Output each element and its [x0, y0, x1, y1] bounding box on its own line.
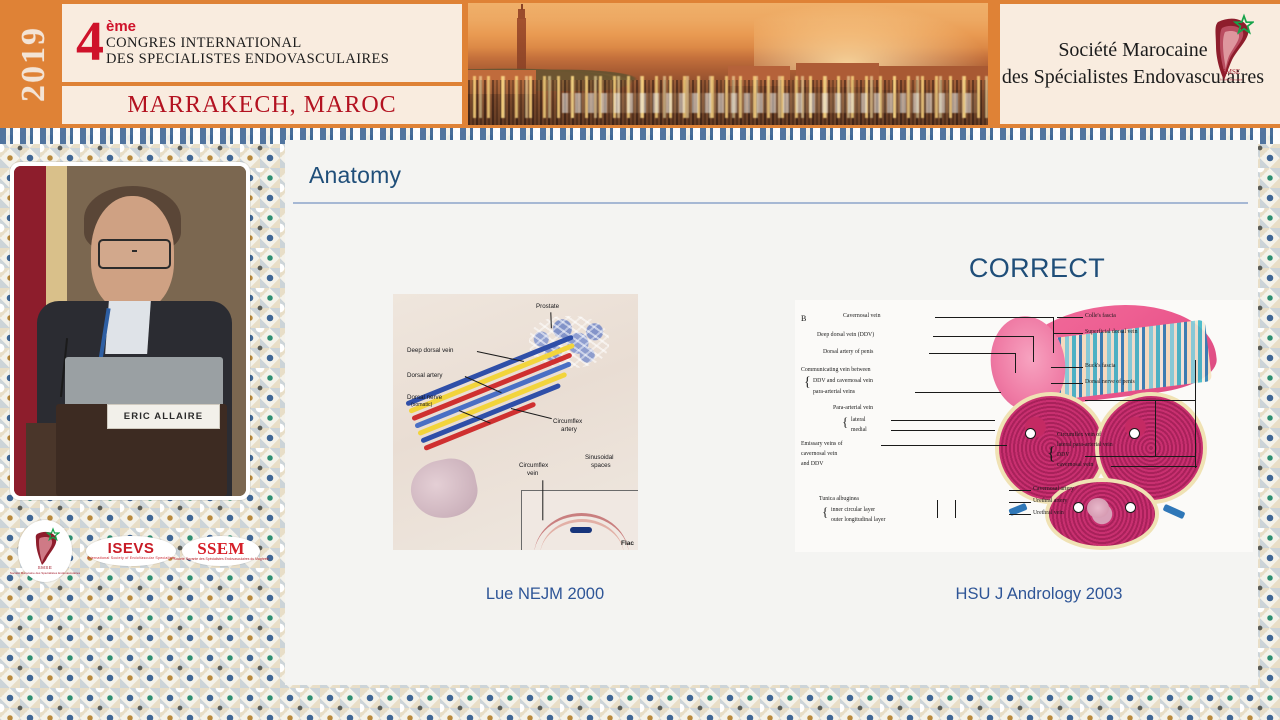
penile-shaft-vessels	[402, 321, 605, 459]
caption-left: Lue NEJM 2000	[395, 585, 695, 604]
flac-label: Flac	[621, 540, 634, 547]
label-urethral-vein: Urethral vein	[1033, 510, 1064, 517]
label-circumflex-vein-2: vein	[527, 470, 538, 477]
conference-header-banner: 2019 4 ème CONGRES INTERNATIONAL DES SPE…	[0, 0, 1280, 128]
correct-label: CORRECT	[957, 253, 1117, 284]
smse-artery-icon	[30, 527, 60, 565]
label-dorsal-artery: Dorsal artery	[407, 372, 442, 379]
brace-icon-3: {	[822, 505, 828, 518]
title-underline	[293, 202, 1248, 204]
label-deep-dorsal-vein: Deep dorsal vein	[407, 347, 453, 354]
label-bucks-fascia: Buck's fascia	[1085, 363, 1116, 370]
glans	[406, 454, 483, 524]
ssem-logo-label: SSEM	[197, 541, 245, 557]
smse-logo-sub: Société Marocaine des Spécialistes Endov…	[10, 571, 80, 575]
society-card: Société Marocaine des Spécialistes Endov…	[1000, 4, 1280, 124]
header-city-row: MARRAKECH, MAROC	[62, 86, 462, 124]
penile-cross-section-illustration: B Cavernosal vein Deep dorsal vein (DDV)…	[795, 300, 1253, 552]
panel-letter-b: B	[801, 314, 806, 323]
label-sinusoidal-spaces-2: spaces	[591, 462, 611, 469]
screen-root: 2019 4 ème CONGRES INTERNATIONAL DES SPE…	[0, 0, 1280, 720]
label-lateral-para-arterial-vein: lateral para-arterial vein	[1057, 442, 1113, 449]
svg-text:SMSE: SMSE	[1222, 68, 1240, 76]
label-cavernosal-artery: Cavernosal artery	[1033, 486, 1074, 493]
label-deep-dorsal-vein-ddv: Deep dorsal vein (DDV)	[817, 332, 874, 339]
label-emissary-veins-2: cavernosal vein	[801, 451, 837, 458]
logo-row: SMSE Société Marocaine des Spécialistes …	[10, 518, 260, 584]
brace-icon-1: {	[804, 376, 811, 390]
isevs-logo-sub: International Society of EndoVascular Sp…	[87, 556, 175, 561]
congress-text-block: ème CONGRES INTERNATIONAL DES SPECIALIST…	[106, 20, 389, 67]
speaker-nameplate: ERIC ALLAIRE	[107, 404, 220, 429]
label-lateral: lateral	[851, 417, 865, 424]
header-congress-card: 4 ème CONGRES INTERNATIONAL DES SPECIALI…	[62, 4, 462, 124]
label-tunica-albuginea: Tunica albuginea	[819, 496, 859, 503]
isevs-logo: ISEVS International Society of EndoVascu…	[86, 536, 176, 566]
label-circumflex-artery: Circumflex	[553, 418, 582, 425]
edition-suffix: ème	[106, 20, 389, 34]
label-urethral-artery: Urethral artery	[1033, 498, 1067, 505]
smse-logo: SMSE Société Marocaine des Spécialistes …	[18, 520, 72, 582]
glasses-icon	[98, 239, 172, 269]
speaker-video-thumbnail[interactable]: ERIC ALLAIRE	[10, 162, 250, 500]
speaker-video-feed[interactable]: ERIC ALLAIRE	[14, 166, 246, 496]
edition-number: 4	[76, 20, 104, 64]
label-ddv-and-cavernosal-vein: DDV and cavernosal vein	[813, 378, 873, 385]
label-circumflex-vein: Circumflex	[519, 462, 548, 469]
label-communicating-vein: Communicating vein between	[801, 367, 871, 374]
brace-icon-4: {	[1047, 444, 1056, 462]
label-prostate: Prostate	[536, 303, 559, 310]
header-city: MARRAKECH, MAROC	[127, 92, 396, 119]
label-dorsal-nerve: Dorsal nerve	[407, 394, 442, 401]
smse-logo-icon: SMSE Société Marocaine	[1208, 12, 1254, 84]
label-outer-longitudinal-layer: outer longitudinal layer	[831, 517, 885, 524]
speaker-name: ERIC ALLAIRE	[124, 411, 203, 422]
label-dorsal-artery-of-penis: Dorsal artery of penis	[823, 349, 873, 356]
ssem-logo-sub: Société Savante des Spécialistes Endovas…	[174, 557, 269, 562]
label-cavernosal-vein: Cavernosal vein	[843, 313, 881, 320]
caption-right: HSU J Andrology 2003	[889, 585, 1189, 604]
header-year: 2019	[6, 4, 62, 124]
isevs-logo-label: ISEVS	[108, 542, 155, 556]
svg-text:Société Marocaine: Société Marocaine	[1220, 78, 1243, 82]
label-cavernosal-vein-right: cavernosal vein	[1057, 462, 1093, 469]
marrakech-skyline-photo	[468, 0, 988, 128]
flaccid-inset-panel: Flac	[521, 490, 638, 550]
label-para-arterial-vein: Para-arterial vein	[833, 405, 873, 412]
urethra	[1087, 498, 1109, 518]
congress-line-1: CONGRES INTERNATIONAL	[106, 35, 389, 51]
laptop	[65, 357, 223, 410]
header-left-block: 2019 4 ème CONGRES INTERNATIONAL DES SPE…	[0, 0, 468, 128]
label-circumflex-vein-of: Circumflex vein of	[1057, 432, 1101, 439]
congress-line-2: DES SPECIALISTES ENDOVASCULAIRES	[106, 51, 389, 67]
ssem-logo: SSEM Société Savante des Spécialistes En…	[182, 536, 260, 566]
brace-icon-2: {	[842, 415, 848, 428]
page-title: Anatomy	[309, 162, 401, 189]
header-congress-top: 4 ème CONGRES INTERNATIONAL DES SPECIALI…	[62, 4, 462, 82]
label-inner-circular-layer: inner circular layer	[831, 507, 875, 514]
label-circumflex-artery-2: artery	[561, 426, 577, 433]
label-ddv: DDV	[1057, 452, 1070, 459]
presentation-slide: Anatomy ... CORRECT Flac	[285, 140, 1258, 685]
label-dorsal-nerve-of-penis: Dorsal nerve of penis	[1085, 379, 1135, 386]
label-medial: medial	[851, 427, 867, 434]
label-dorsal-nerve-sub: (somatic)	[411, 402, 432, 409]
label-superficial-dorsal-vein: Superficial dorsal vein	[1085, 329, 1137, 336]
label-colles-fascia: Colle's fascia	[1085, 313, 1116, 320]
penile-vascular-anatomy-illustration: Flac Prostate Deep dorsal vein Dorsal ar…	[393, 294, 638, 550]
label-para-arterial-veins: para-arterial veins	[813, 389, 855, 396]
label-sinusoidal-spaces: Sinusoidal	[585, 454, 614, 461]
label-emissary-veins: Emissary veins of	[801, 441, 843, 448]
header-right-block: Société Marocaine des Spécialistes Endov…	[988, 0, 1280, 128]
label-emissary-veins-3: and DDV	[801, 461, 823, 468]
